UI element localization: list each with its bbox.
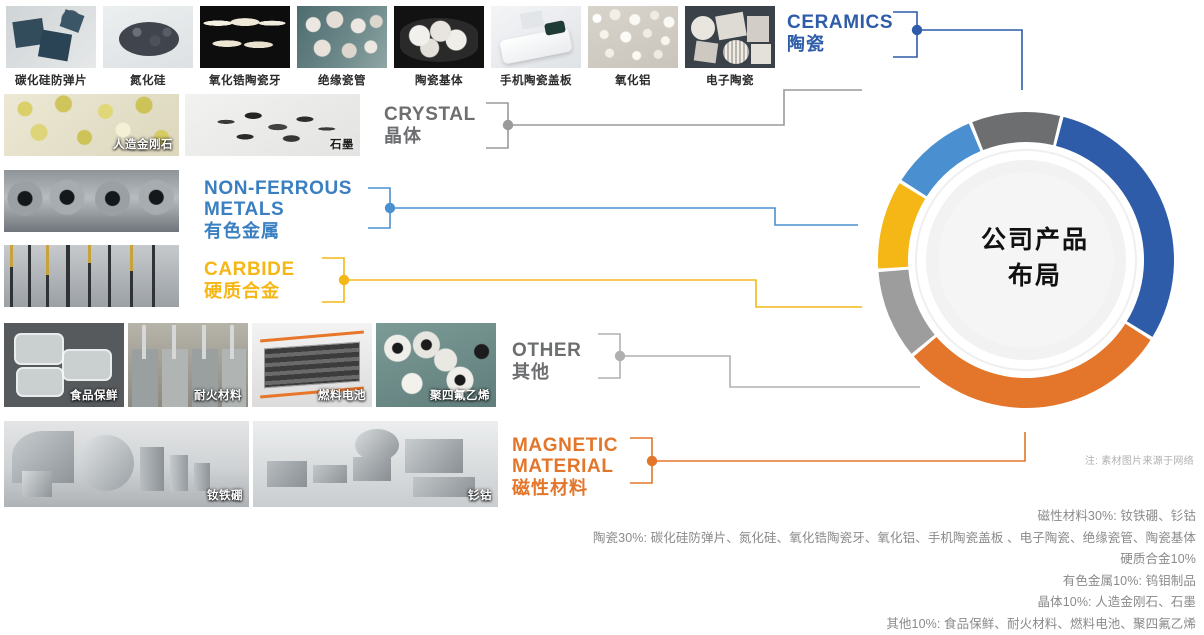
photo-tile-other-1: 食品保鲜 <box>4 323 124 407</box>
category-label-cn: 磁性材料 <box>512 477 618 500</box>
connector-ceramics <box>893 12 1022 90</box>
photo-tile-ceramics-4 <box>297 6 387 68</box>
connector-dot-crystal <box>503 120 513 130</box>
photo-caption: 食品保鲜 <box>70 387 118 403</box>
photo-caption: 手机陶瓷盖板 <box>491 72 581 88</box>
photo-caption: 石墨 <box>330 136 354 152</box>
photo-tile-nonferrous-1 <box>4 170 179 232</box>
photo-tile-magnetic-2: 钐钴 <box>253 421 498 507</box>
legend-item: 陶瓷30%: 碳化硅防弹片、氮化硅、氧化锆陶瓷牙、氧化铝、手机陶瓷盖板 、电子陶… <box>196 528 1196 550</box>
category-label-cn: 其他 <box>512 361 582 384</box>
photo-tile-ceramics-5 <box>394 6 484 68</box>
connector-nonferrous <box>368 188 858 228</box>
legend-item: 晶体10%: 人造金刚石、石墨 <box>196 592 1196 614</box>
photo-caption: 绝缘瓷管 <box>297 72 387 88</box>
photo-tile-ceramics-6 <box>491 6 581 68</box>
center-title-line1: 公司产品 <box>955 222 1115 258</box>
photo-caption: 碳化硅防弹片 <box>6 72 96 88</box>
legend-item: 有色金属10%: 钨钼制品 <box>196 571 1196 593</box>
photo-caption: 氮化硅 <box>103 72 193 88</box>
photo-tile-ceramics-8 <box>685 6 775 68</box>
connector-magnetic <box>630 432 1025 483</box>
photo-caption: 氧化铝 <box>588 72 678 88</box>
photo-image <box>588 6 678 68</box>
category-label-cn: 陶瓷 <box>787 33 893 56</box>
connector-dot-nonferrous <box>385 203 395 213</box>
category-label-cn: 有色金属 <box>204 220 352 243</box>
photo-caption: 人造金刚石 <box>113 136 173 152</box>
photo-caption: 钕铁硼 <box>207 487 243 503</box>
photo-caption: 钐钴 <box>468 487 492 503</box>
legend-item: 硬质合金10% <box>196 549 1196 571</box>
connector-crystal <box>486 90 862 148</box>
connector-carbide <box>322 258 862 307</box>
photo-caption: 聚四氟乙烯 <box>430 387 490 403</box>
photo-tile-ceramics-3 <box>200 6 290 68</box>
photo-tile-crystal-1: 人造金刚石 <box>4 94 179 156</box>
category-label-cn: 硬质合金 <box>204 280 295 303</box>
category-label-en: CERAMICS <box>787 12 893 33</box>
photo-caption: 电子陶瓷 <box>685 72 775 88</box>
photo-tile-ceramics-2 <box>103 6 193 68</box>
photo-caption: 陶瓷基体 <box>394 72 484 88</box>
connector-dot-other <box>615 351 625 361</box>
category-label-carbide[interactable]: CARBIDE 硬质合金 <box>204 259 295 303</box>
photo-caption: 氧化锆陶瓷牙 <box>200 72 290 88</box>
category-label-ceramics[interactable]: CERAMICS 陶瓷 <box>787 12 893 56</box>
connector-dot-ceramics <box>912 25 922 35</box>
legend-item: 磁性材料30%: 钕铁硼、钐钴 <box>196 506 1196 528</box>
photo-caption: 燃料电池 <box>318 387 366 403</box>
center-title-line2: 布局 <box>955 258 1115 294</box>
category-label-crystal[interactable]: CRYSTAL 晶体 <box>384 104 476 148</box>
photo-tile-crystal-2: 石墨 <box>185 94 360 156</box>
source-note: 注: 素材图片来源于网络 <box>1085 452 1194 467</box>
category-label-cn: 晶体 <box>384 125 476 148</box>
photo-tile-other-2: 耐火材料 <box>128 323 248 407</box>
photo-tile-ceramics-7 <box>588 6 678 68</box>
category-label-magnetic[interactable]: MAGNETIC MATERIAL 磁性材料 <box>512 435 618 500</box>
connector-dot-magnetic <box>647 456 657 466</box>
infographic-canvas: 碳化硅防弹片 氮化硅 氧化锆陶瓷牙 绝缘瓷管 陶瓷基体 手机陶瓷盖板 氧化铝 <box>0 0 1204 632</box>
photo-tile-other-4: 聚四氟乙烯 <box>376 323 496 407</box>
donut-center-title: 公司产品 布局 <box>955 222 1115 294</box>
category-label-other[interactable]: OTHER 其他 <box>512 340 582 384</box>
category-label-en: CARBIDE <box>204 259 295 280</box>
category-label-en: CRYSTAL <box>384 104 476 125</box>
photo-tile-magnetic-1: 钕铁硼 <box>4 421 249 507</box>
category-label-nonferrous[interactable]: NON-FERROUS METALS 有色金属 <box>204 178 352 243</box>
photo-tile-other-3: 燃料电池 <box>252 323 372 407</box>
connector-dot-carbide <box>339 275 349 285</box>
category-label-en: OTHER <box>512 340 582 361</box>
photo-tile-carbide-1 <box>4 245 179 307</box>
photo-caption: 耐火材料 <box>194 387 242 403</box>
legend-list: 磁性材料30%: 钕铁硼、钐钴 陶瓷30%: 碳化硅防弹片、氮化硅、氧化锆陶瓷牙… <box>196 506 1196 635</box>
category-label-en: NON-FERROUS METALS <box>204 178 352 220</box>
photo-tile-ceramics-1 <box>6 6 96 68</box>
category-label-en: MAGNETIC MATERIAL <box>512 435 618 477</box>
